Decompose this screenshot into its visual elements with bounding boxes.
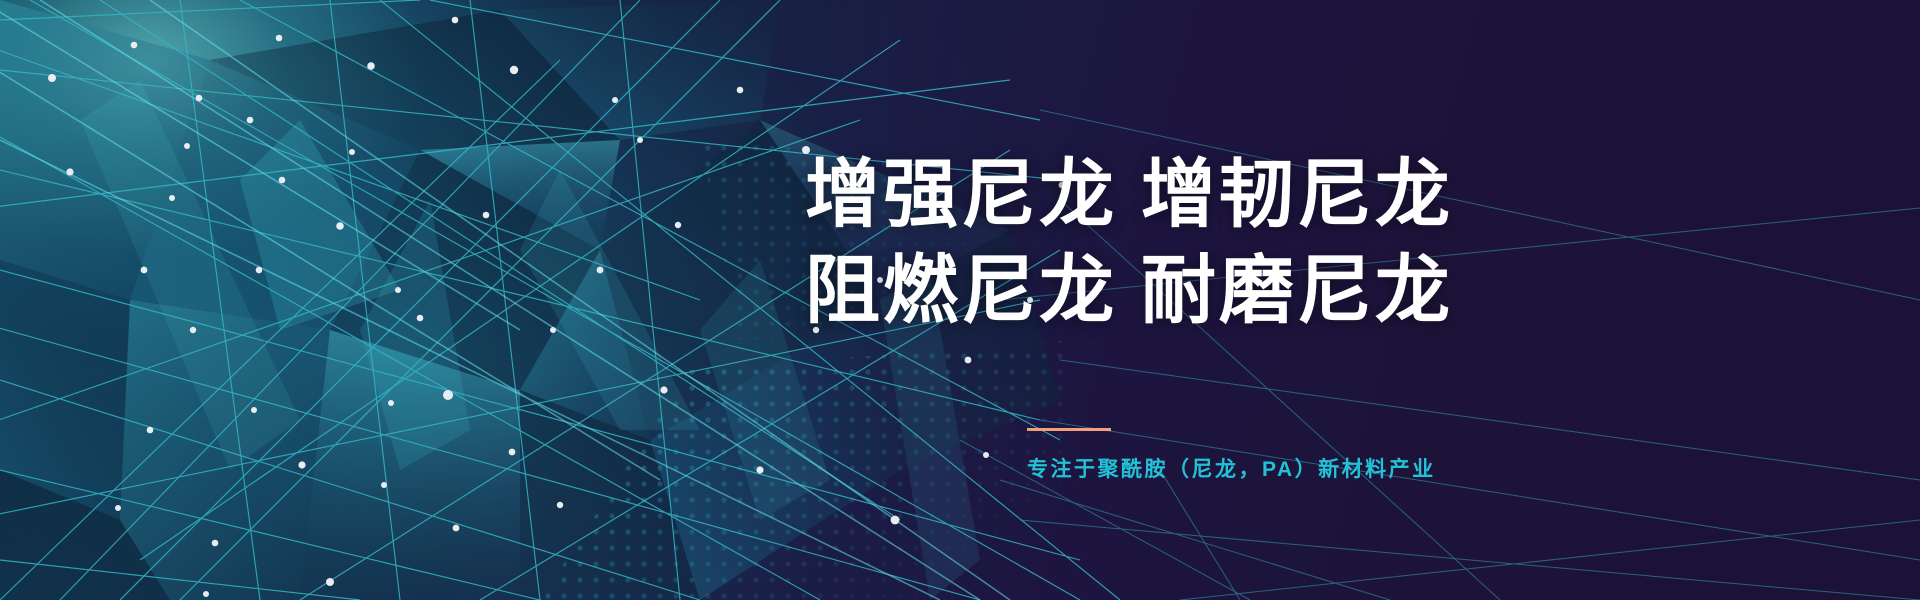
tagline-block: 专注于聚酰胺（尼龙，PA）新材料产业 (1027, 428, 1487, 483)
hero-banner: 增强尼龙 增韧尼龙 阻燃尼龙 耐磨尼龙 专注于聚酰胺（尼龙，PA）新材料产业 (0, 0, 1920, 600)
tagline-text: 专注于聚酰胺（尼龙，PA）新材料产业 (1027, 453, 1487, 483)
headline-line-1: 增强尼龙 增韧尼龙 (805, 146, 1505, 242)
headline-line-2: 阻燃尼龙 耐磨尼龙 (805, 242, 1505, 338)
headline-block: 增强尼龙 增韧尼龙 阻燃尼龙 耐磨尼龙 (805, 146, 1505, 338)
tagline-divider-rule (1027, 428, 1111, 431)
